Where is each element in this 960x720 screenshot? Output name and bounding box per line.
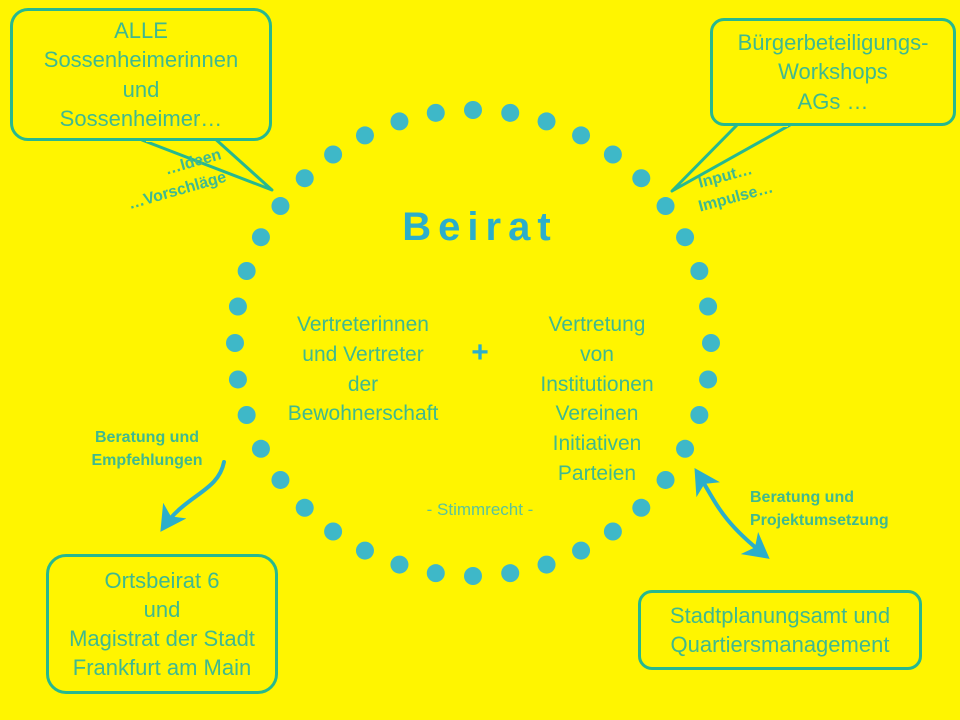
ring-dot xyxy=(238,262,256,280)
box-stadtplanung-line-1: Stadtplanungsamt und xyxy=(670,601,890,630)
annotation-beratung-links-line-1: Beratung und xyxy=(80,426,214,449)
ring-dot xyxy=(604,523,622,541)
ring-dot xyxy=(538,112,556,130)
column-institutionen: Vertretung von Institutionen Vereinen In… xyxy=(507,310,687,489)
box-stadtplanung-line-2: Quartiersmanagement xyxy=(671,630,890,659)
column-left-line-3: der xyxy=(273,370,453,400)
ring-dot xyxy=(604,146,622,164)
column-bewohnerschaft: Vertreterinnen und Vertreter der Bewohne… xyxy=(273,310,453,429)
bubble-workshops-line-1: Bürgerbeteiligungs- xyxy=(738,28,929,57)
ring-dot xyxy=(324,146,342,164)
box-ortsbeirat-line-4: Frankfurt am Main xyxy=(73,653,252,682)
bubble-citizens-line-4: Sossenheimer… xyxy=(60,104,223,133)
column-right-line-3: Institutionen xyxy=(507,370,687,400)
ring-dot xyxy=(572,126,590,144)
annotation-beratung-rechts-line-1: Beratung und xyxy=(750,486,920,509)
ring-dot xyxy=(501,564,519,582)
ring-dot xyxy=(501,104,519,122)
ring-dot xyxy=(632,169,650,187)
column-right-line-5: Initiativen xyxy=(507,429,687,459)
diagram-canvas: ALLE Sossenheimerinnen und Sossenheimer…… xyxy=(0,0,960,720)
column-right-line-1: Vertretung xyxy=(507,310,687,340)
beirat-composition: Vertreterinnen und Vertreter der Bewohne… xyxy=(255,310,705,489)
ring-dot xyxy=(238,406,256,424)
ring-dot xyxy=(356,126,374,144)
bubble-citizens-line-1: ALLE xyxy=(114,16,168,45)
annotation-beratung-projektumsetzung: Beratung und Projektumsetzung xyxy=(750,486,920,532)
ring-dot xyxy=(464,101,482,119)
column-left-line-1: Vertreterinnen xyxy=(273,310,453,340)
box-ortsbeirat-magistrat[interactable]: Ortsbeirat 6 und Magistrat der Stadt Fra… xyxy=(46,554,278,694)
ring-dot xyxy=(427,564,445,582)
ring-dot xyxy=(390,112,408,130)
ring-dot xyxy=(229,298,247,316)
ring-dot xyxy=(324,523,342,541)
column-right-line-6: Parteien xyxy=(507,459,687,489)
column-right-line-2: von xyxy=(507,340,687,370)
box-stadtplanungsamt-quartiersmanagement[interactable]: Stadtplanungsamt und Quartiersmanagement xyxy=(638,590,922,670)
ring-dot xyxy=(538,556,556,574)
speech-bubble-citizens[interactable]: ALLE Sossenheimerinnen und Sossenheimer… xyxy=(10,8,272,141)
ring-dot xyxy=(356,542,374,560)
column-left-line-4: Bewohnerschaft xyxy=(273,399,453,429)
ring-dot xyxy=(572,542,590,560)
annotation-beratung-links-line-2: Empfehlungen xyxy=(80,449,214,472)
page-title: Beirat xyxy=(0,205,960,250)
plus-icon: + xyxy=(453,310,507,375)
annotation-beratung-rechts-line-2: Projektumsetzung xyxy=(750,509,920,532)
bubble-workshops-line-2: Workshops xyxy=(778,57,888,86)
bubble-citizens-line-3: und xyxy=(123,75,160,104)
ring-dot xyxy=(229,370,247,388)
annotation-beratung-empfehlungen: Beratung und Empfehlungen xyxy=(80,426,214,472)
column-right-line-4: Vereinen xyxy=(507,399,687,429)
bubble-workshops-line-3: AGs … xyxy=(798,87,869,116)
speech-bubble-workshops[interactable]: Bürgerbeteiligungs- Workshops AGs … xyxy=(710,18,956,126)
box-ortsbeirat-line-3: Magistrat der Stadt xyxy=(69,624,255,653)
ring-dot xyxy=(226,334,244,352)
ring-dot xyxy=(296,169,314,187)
box-ortsbeirat-line-1: Ortsbeirat 6 xyxy=(105,566,220,595)
box-ortsbeirat-line-2: und xyxy=(144,595,181,624)
column-left-line-2: und Vertreter xyxy=(273,340,453,370)
ring-dot xyxy=(690,262,708,280)
ring-dot xyxy=(464,567,482,585)
ring-dot xyxy=(390,556,408,574)
bubble-citizens-line-2: Sossenheimerinnen xyxy=(44,45,238,74)
ring-dot xyxy=(427,104,445,122)
